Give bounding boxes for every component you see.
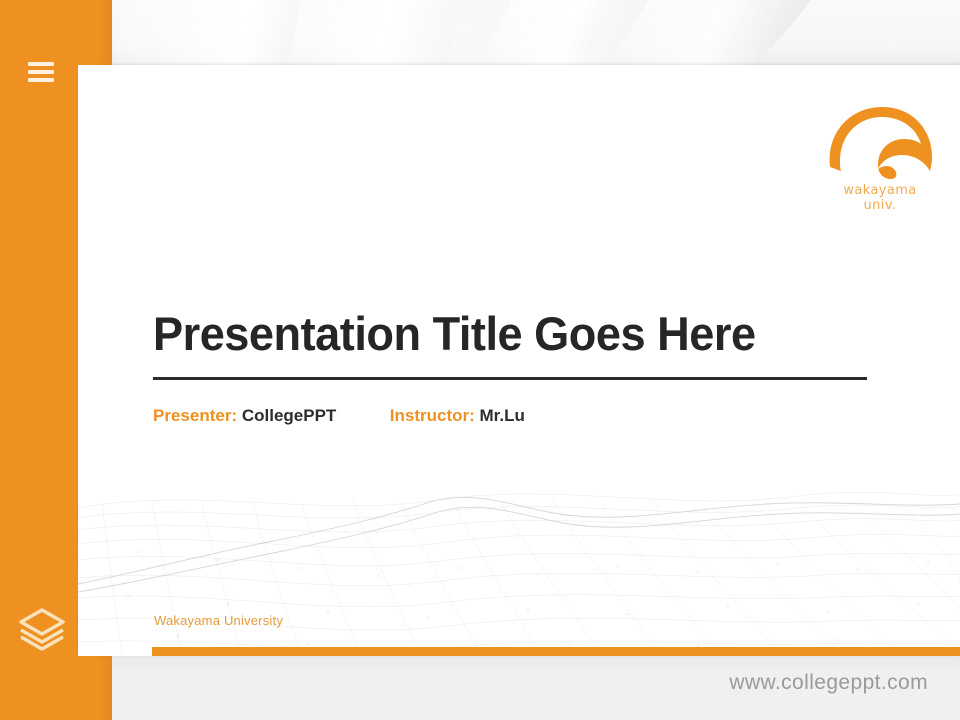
logo-line-1: wakayama [843, 183, 916, 198]
presenter-value: CollegePPT [242, 406, 336, 425]
hamburger-bar [28, 62, 54, 66]
instructor-value: Mr.Lu [480, 406, 525, 425]
logo-line-2: univ. [820, 198, 940, 213]
footer-organization: Wakayama University [154, 613, 283, 628]
credits-line: Presenter: CollegePPT Instructor: Mr.Lu [153, 406, 525, 426]
hamburger-bar [28, 78, 54, 82]
page-title: Presentation Title Goes Here [153, 306, 863, 362]
layers-icon[interactable] [18, 604, 66, 652]
slide-accent-strip [152, 647, 960, 656]
presenter-label: Presenter: [153, 406, 237, 425]
hamburger-bar [28, 70, 54, 74]
top-decorative-band [0, 0, 960, 66]
instructor-label: Instructor: [390, 406, 475, 425]
slide-canvas: wakayama univ. Presentation Title Goes H… [0, 0, 960, 720]
university-logo: wakayama univ. [820, 105, 940, 230]
logo-text: wakayama univ. [820, 183, 940, 213]
decorative-curve-3 [568, 0, 902, 66]
title-divider [153, 377, 867, 380]
watermark: www.collegeppt.com [729, 671, 928, 695]
wave-spiral-icon [824, 105, 936, 179]
slide-card: wakayama univ. Presentation Title Goes H… [78, 65, 960, 656]
decorative-curve-4 [107, 0, 313, 66]
hamburger-icon[interactable] [28, 62, 54, 82]
